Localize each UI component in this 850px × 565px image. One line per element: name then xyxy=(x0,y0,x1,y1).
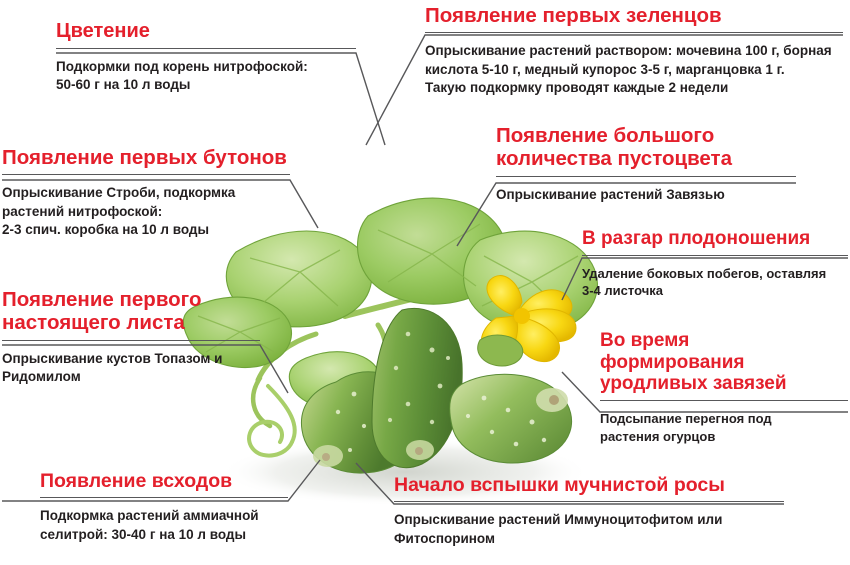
callout-many-barren-flowers: Появление большого количества пустоцвета… xyxy=(496,124,796,204)
callout-peak-fruiting: В разгар плодоношения Удаление боковых п… xyxy=(582,228,848,300)
callout-first-buds-rule xyxy=(2,174,290,175)
callout-many-barren-flowers-heading: Появление большого количества пустоцвета xyxy=(496,124,796,171)
callout-first-true-leaf-rule xyxy=(2,340,260,341)
callout-first-buds-body: Опрыскивание Строби, подкормка растений … xyxy=(2,184,290,239)
callout-peak-fruiting-rule xyxy=(582,255,848,256)
callout-powdery-mildew-rule xyxy=(394,501,784,502)
callout-first-greens-heading: Появление первых зеленцов xyxy=(425,4,843,27)
callout-peak-fruiting-body: Удаление боковых побегов, оставляя 3-4 л… xyxy=(582,265,848,300)
callout-many-barren-flowers-body: Опрыскивание растений Завязью xyxy=(496,186,796,204)
callout-first-greens-body: Опрыскивание растений раствором: мочевин… xyxy=(425,42,843,97)
callout-powdery-mildew: Начало вспышки мучнистой росы Опрыскиван… xyxy=(394,474,784,548)
callout-seedlings-body: Подкормка растений аммиачной селитрой: 3… xyxy=(40,507,288,544)
callout-ugly-ovaries-body: Подсыпание перегноя под растения огурцов xyxy=(600,410,848,445)
callout-flowering-body: Подкормки под корень нитрофоской: 50-60 … xyxy=(56,58,356,95)
callout-first-true-leaf-heading: Появление первого настоящего листа xyxy=(2,288,260,335)
callout-seedlings-rule xyxy=(40,497,288,498)
callout-many-barren-flowers-rule xyxy=(496,176,796,177)
callout-first-true-leaf-body: Опрыскивание кустов Топазом и Ридомилом xyxy=(2,350,260,387)
callout-flowering-rule xyxy=(56,48,356,49)
callout-ugly-ovaries: Во время формирования уродливых завязей … xyxy=(600,330,848,445)
callout-first-true-leaf: Появление первого настоящего листа Опрыс… xyxy=(2,288,260,386)
callout-peak-fruiting-heading: В разгар плодоношения xyxy=(582,228,848,250)
callout-first-buds: Появление первых бутонов Опрыскивание Ст… xyxy=(2,146,290,239)
callout-first-buds-heading: Появление первых бутонов xyxy=(2,146,290,169)
callout-ugly-ovaries-heading: Во время формирования уродливых завязей xyxy=(600,330,848,395)
callout-powdery-mildew-body: Опрыскивание растений Иммуноцитофитом ил… xyxy=(394,511,784,548)
callout-seedlings: Появление всходов Подкормка растений амм… xyxy=(40,470,288,544)
callout-first-greens: Появление первых зеленцов Опрыскивание р… xyxy=(425,4,843,97)
callout-seedlings-heading: Появление всходов xyxy=(40,470,288,492)
callout-ugly-ovaries-rule xyxy=(600,400,848,401)
callout-flowering-heading: Цветение xyxy=(56,20,356,43)
callout-powdery-mildew-heading: Начало вспышки мучнистой росы xyxy=(394,474,784,496)
infographic-root: Цветение Подкормки под корень нитрофоско… xyxy=(0,0,850,565)
callout-flowering: Цветение Подкормки под корень нитрофоско… xyxy=(56,20,356,95)
callout-first-greens-rule xyxy=(425,32,843,33)
